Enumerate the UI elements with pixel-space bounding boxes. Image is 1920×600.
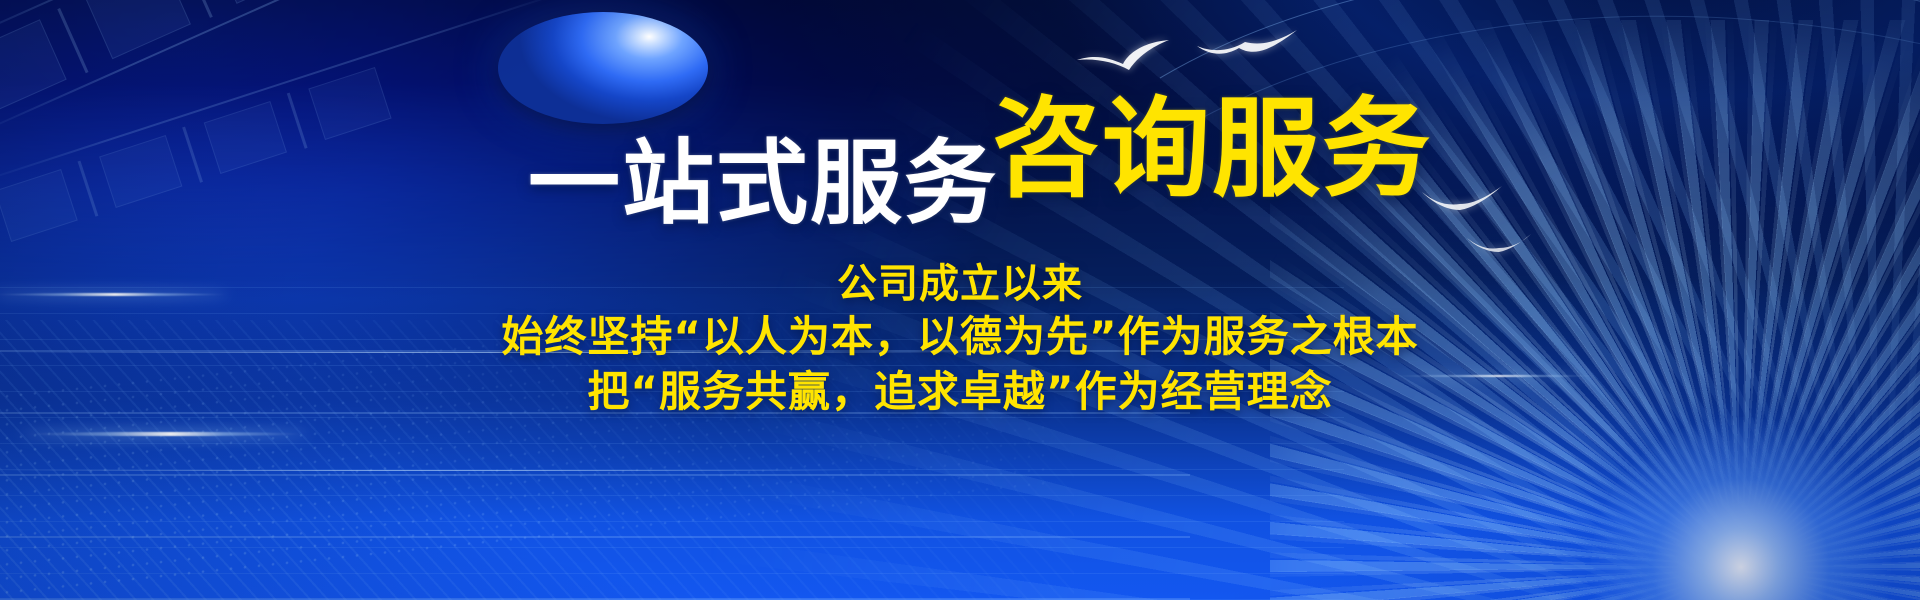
light-streak [0, 293, 230, 296]
filmstrip-tick [57, 8, 88, 73]
filmstrip-tick [182, 127, 203, 183]
filmstrip-cell [308, 67, 391, 140]
light-streak [1390, 375, 1600, 377]
fan-rays-wide [680, 0, 1920, 600]
filmstrip-cell [0, 169, 78, 242]
promo-banner: 一站式服务 咨询服务 公司成立以来 始终坚持“以人为本，以德为先”作为服务之根本… [0, 0, 1920, 600]
seagull-icon [1420, 184, 1504, 214]
horizon-line [0, 352, 980, 353]
seagull-icon [1465, 232, 1533, 256]
light-streak [20, 432, 310, 436]
horizon-line [0, 470, 860, 471]
filmstrip-tick [78, 161, 99, 217]
filmstrip-cell [99, 135, 182, 208]
filmstrip-cell [204, 101, 287, 174]
seagull-icon [1195, 26, 1299, 60]
blue-sphere-icon [498, 12, 708, 124]
seagull-icon [1075, 38, 1171, 72]
filmstrip-tick [287, 93, 308, 149]
